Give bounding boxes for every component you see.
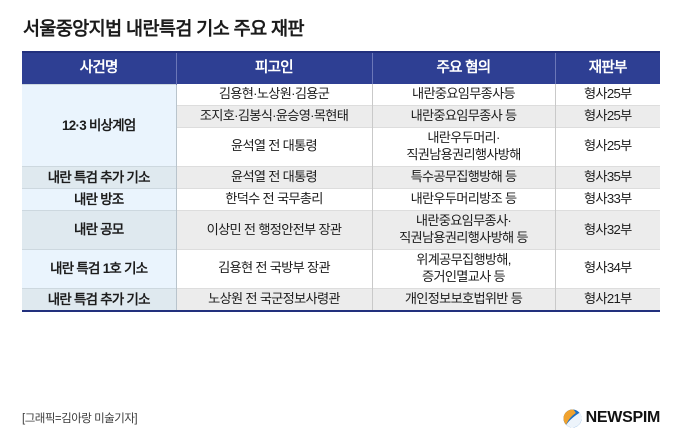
trial-table-container: 사건명 피고인 주요 혐의 재판부 12·3 비상계엄김용현·노상원·김용군내란… xyxy=(22,51,660,312)
charge-line: 직권남용권리행사방해 등 xyxy=(376,230,552,247)
table-header-row: 사건명 피고인 주요 혐의 재판부 xyxy=(22,53,660,84)
cell-case-name: 내란 특검 추가 기소 xyxy=(22,166,176,188)
charge-line: 내란우두머리· xyxy=(376,130,552,147)
cell-defendant: 한덕수 전 국무총리 xyxy=(176,188,372,210)
cell-court: 형사21부 xyxy=(555,288,660,310)
footer: [그래픽=김아랑 미술기자] NEWSPIM xyxy=(22,406,660,430)
table-header: 사건명 피고인 주요 혐의 재판부 xyxy=(22,53,660,84)
trial-table: 사건명 피고인 주요 혐의 재판부 12·3 비상계엄김용현·노상원·김용군내란… xyxy=(22,53,660,310)
cell-charges: 내란우두머리·직권남용권리행사방해 xyxy=(372,127,555,166)
cell-court: 형사32부 xyxy=(555,211,660,250)
charge-line: 직권남용권리행사방해 xyxy=(376,147,552,164)
cell-court: 형사35부 xyxy=(555,166,660,188)
cell-defendant: 윤석열 전 대통령 xyxy=(176,127,372,166)
charge-line: 내란중요임무종사등 xyxy=(376,86,552,103)
cell-court: 형사34부 xyxy=(555,249,660,288)
column-header-charges: 주요 혐의 xyxy=(372,53,555,84)
cell-charges: 위계공무집행방해,증거인멸교사 등 xyxy=(372,249,555,288)
table-row: 내란 공모이상민 전 행정안전부 장관내란중요임무종사·직권남용권리행사방해 등… xyxy=(22,211,660,250)
charge-line: 내란중요임무종사· xyxy=(376,213,552,230)
cell-defendant: 노상원 전 국군정보사령관 xyxy=(176,288,372,310)
cell-case-name: 내란 특검 1호 기소 xyxy=(22,249,176,288)
table-row: 12·3 비상계엄김용현·노상원·김용군내란중요임무종사등형사25부 xyxy=(22,84,660,105)
table-row: 내란 특검 추가 기소윤석열 전 대통령특수공무집행방해 등형사35부 xyxy=(22,166,660,188)
cell-charges: 내란중요임무종사 등 xyxy=(372,106,555,128)
column-header-defendant: 피고인 xyxy=(176,53,372,84)
cell-charges: 내란중요임무종사·직권남용권리행사방해 등 xyxy=(372,211,555,250)
table-row: 내란 특검 1호 기소김용현 전 국방부 장관위계공무집행방해,증거인멸교사 등… xyxy=(22,249,660,288)
cell-court: 형사25부 xyxy=(555,106,660,128)
cell-court: 형사33부 xyxy=(555,188,660,210)
infographic-root: 서울중앙지법 내란특검 기소 주요 재판 사건명 피고인 주요 혐의 재판부 1… xyxy=(0,0,680,442)
cell-defendant: 김용현 전 국방부 장관 xyxy=(176,249,372,288)
table-body: 12·3 비상계엄김용현·노상원·김용군내란중요임무종사등형사25부조지호·김봉… xyxy=(22,84,660,310)
cell-case-name: 12·3 비상계엄 xyxy=(22,84,176,166)
table-row: 내란 특검 추가 기소노상원 전 국군정보사령관개인정보보호법위반 등형사21부 xyxy=(22,288,660,310)
cell-charges: 개인정보보호법위반 등 xyxy=(372,288,555,310)
cell-case-name: 내란 방조 xyxy=(22,188,176,210)
newspim-logo: NEWSPIM xyxy=(563,409,660,428)
column-header-court: 재판부 xyxy=(555,53,660,84)
cell-case-name: 내란 특검 추가 기소 xyxy=(22,288,176,310)
cell-defendant: 조지호·김봉식·윤승영·목현태 xyxy=(176,106,372,128)
cell-charges: 내란중요임무종사등 xyxy=(372,84,555,105)
cell-case-name: 내란 공모 xyxy=(22,211,176,250)
charge-line: 증거인멸교사 등 xyxy=(376,269,552,286)
page-title: 서울중앙지법 내란특검 기소 주요 재판 xyxy=(23,18,660,40)
newspim-swirl-icon xyxy=(563,409,582,428)
newspim-wordmark: NEWSPIM xyxy=(586,409,660,427)
charge-line: 개인정보보호법위반 등 xyxy=(376,291,552,308)
table-row: 내란 방조한덕수 전 국무총리내란우두머리방조 등형사33부 xyxy=(22,188,660,210)
cell-charges: 특수공무집행방해 등 xyxy=(372,166,555,188)
graphic-credit: [그래픽=김아랑 미술기자] xyxy=(22,410,137,426)
cell-defendant: 윤석열 전 대통령 xyxy=(176,166,372,188)
column-header-case-name: 사건명 xyxy=(22,53,176,84)
cell-charges: 내란우두머리방조 등 xyxy=(372,188,555,210)
charge-line: 내란중요임무종사 등 xyxy=(376,108,552,125)
cell-defendant: 이상민 전 행정안전부 장관 xyxy=(176,211,372,250)
charge-line: 특수공무집행방해 등 xyxy=(376,169,552,186)
cell-court: 형사25부 xyxy=(555,127,660,166)
charge-line: 내란우두머리방조 등 xyxy=(376,191,552,208)
cell-court: 형사25부 xyxy=(555,84,660,105)
charge-line: 위계공무집행방해, xyxy=(376,252,552,269)
cell-defendant: 김용현·노상원·김용군 xyxy=(176,84,372,105)
